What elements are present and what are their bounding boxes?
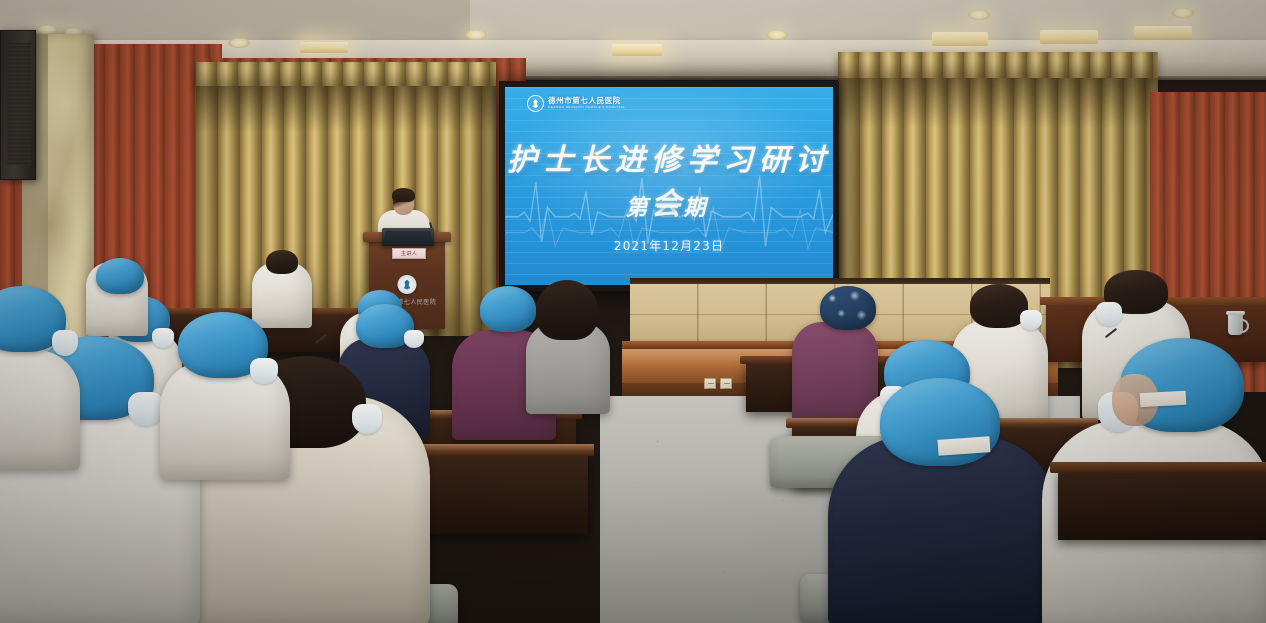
- slide-date: 2021年12月23日: [505, 237, 833, 254]
- attendee-hair: [536, 280, 598, 340]
- name-card: 主讲人: [392, 248, 426, 259]
- desk-top: [1050, 462, 1266, 473]
- attendee-coat: [0, 350, 80, 470]
- hospital-logo: 德州市第七人民医院 DEZHOU SEVENTH PEOPLE'S HOSPIT…: [527, 95, 625, 112]
- hospital-name-en: DEZHOU SEVENTH PEOPLE'S HOSPITAL: [548, 106, 625, 109]
- face-mask: [250, 358, 278, 384]
- ceiling-panel-light: [1040, 30, 1098, 44]
- recessed-downlight: [766, 30, 788, 40]
- face-mask: [1096, 302, 1122, 326]
- ceiling-panel-light: [932, 32, 988, 46]
- conference-room-photo: 德州市第七人民医院 DEZHOU SEVENTH PEOPLE'S HOSPIT…: [0, 0, 1266, 623]
- face-mask: [404, 330, 424, 348]
- tea-mug: [1228, 314, 1243, 335]
- recessed-downlight: [968, 10, 990, 20]
- recessed-downlight: [465, 30, 487, 40]
- hospital-emblem-icon: [398, 275, 417, 294]
- hospital-logo-text: 德州市第七人民医院 DEZHOU SEVENTH PEOPLE'S HOSPIT…: [548, 97, 625, 109]
- curtain-valance-left: [196, 62, 496, 88]
- name-card-text: 主讲人: [401, 250, 417, 257]
- wall-speaker: [0, 30, 36, 180]
- face-mask: [1020, 310, 1042, 330]
- curtain-valance-right: [838, 52, 1158, 80]
- stage-curtain-left: [196, 86, 496, 336]
- ceiling-panel-light: [1134, 26, 1192, 40]
- surgical-cap-patterned: [820, 286, 876, 330]
- ceiling-panel-light: [300, 42, 348, 53]
- tea-mug-lid: [1226, 311, 1245, 315]
- hospital-name-cn: 德州市第七人民医院: [548, 97, 625, 105]
- hospital-logo-icon: [527, 95, 544, 112]
- desk-row-front-right: [1058, 470, 1266, 540]
- notebook-paper: [1140, 391, 1187, 407]
- laptop: [382, 228, 434, 246]
- surgical-cap: [480, 286, 536, 332]
- face-mask: [352, 404, 382, 434]
- projection-screen: 德州市第七人民医院 DEZHOU SEVENTH PEOPLE'S HOSPIT…: [499, 81, 839, 291]
- recessed-downlight: [1172, 8, 1194, 18]
- face-mask: [52, 330, 78, 356]
- screen-surface: 德州市第七人民医院 DEZHOU SEVENTH PEOPLE'S HOSPIT…: [505, 87, 833, 285]
- presenter-hair: [392, 188, 415, 202]
- face-mask: [152, 328, 174, 348]
- attendee-hair: [266, 250, 298, 274]
- power-outlet: [704, 378, 716, 389]
- power-outlet: [720, 378, 732, 389]
- recessed-downlight: [228, 38, 250, 48]
- surgical-cap: [96, 258, 144, 294]
- slide-subtitle: 第一期: [505, 190, 833, 222]
- face-mask: [128, 392, 164, 426]
- ceiling-panel-light: [612, 44, 662, 56]
